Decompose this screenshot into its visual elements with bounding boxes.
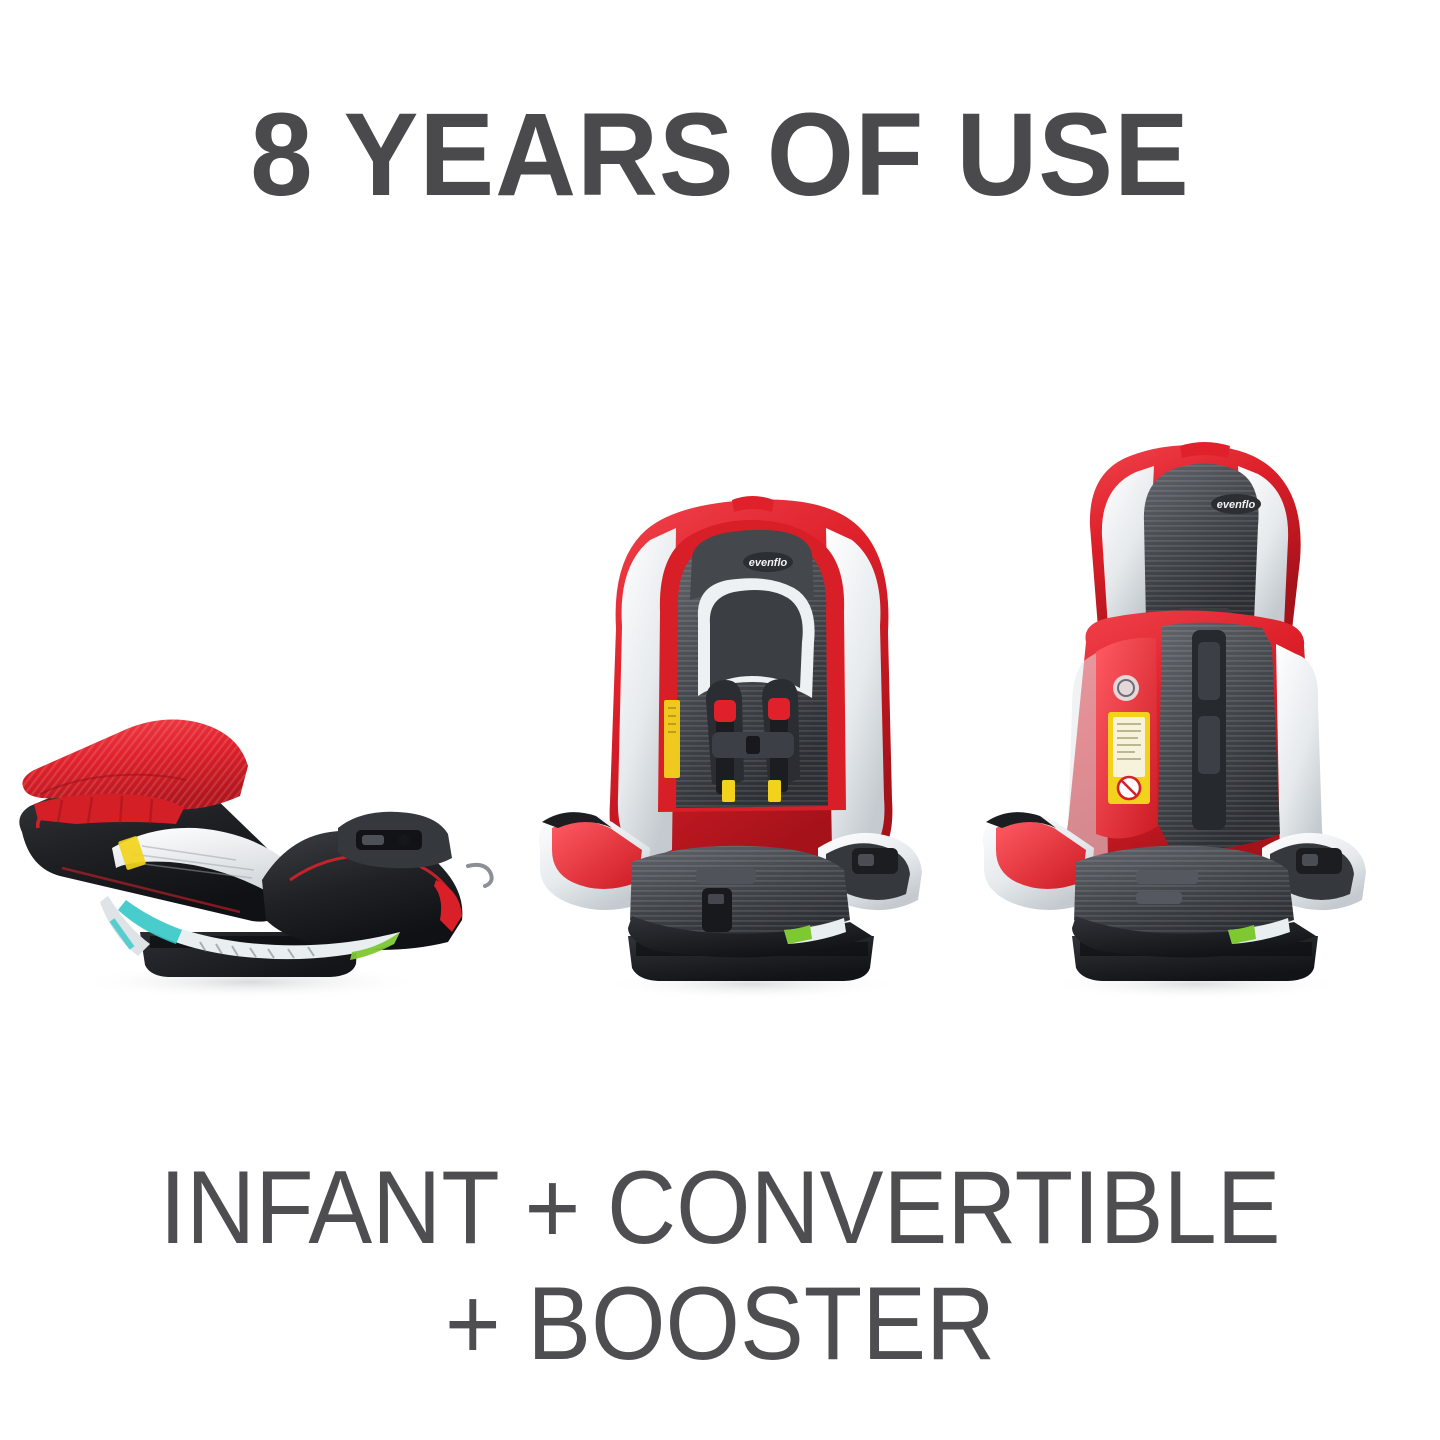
convertible-cup-holder-slot [858, 854, 874, 866]
convertible-chest-clip-latch [746, 736, 760, 754]
infant-buckle-tongue [362, 835, 384, 845]
convertible-buckle-release [708, 894, 724, 904]
convertible-warning-label [664, 700, 680, 778]
brand-logo-text-convertible: evenflo [749, 557, 788, 569]
caption-line-2: + BOOSTER [58, 1266, 1383, 1382]
product-configuration-row: evenflo [0, 390, 1440, 1010]
booster-lap-belt-slot-2 [1136, 892, 1182, 904]
marketing-image-canvas: 8 YEARS OF USE [0, 0, 1440, 1440]
booster-headrest-texture [1144, 463, 1259, 622]
booster-icon-badge [1113, 675, 1139, 701]
booster-warning-label-body [1113, 717, 1145, 777]
convertible-chest-clip-left [714, 700, 736, 722]
brand-logo-convertible: evenflo [743, 552, 793, 572]
brand-logo-booster: evenflo [1211, 494, 1261, 514]
convertible-harness-tag-left [722, 780, 735, 802]
product-image-booster: evenflo [940, 430, 1440, 1010]
caption-line-1: INFANT + CONVERTIBLE [58, 1150, 1383, 1266]
brand-logo-text-booster: evenflo [1217, 499, 1256, 511]
infant-buckle-button [399, 835, 410, 846]
product-image-convertible: evenflo [500, 450, 1000, 1010]
convertible-crotch-buckle-plate [696, 868, 756, 884]
infant-latch-hook [468, 865, 492, 886]
booster-belt-guide-upper [1198, 642, 1220, 700]
booster-lap-belt-slot [1136, 870, 1198, 884]
booster-belt-guide-lower [1198, 716, 1220, 774]
booster-cup-holder-slot [1302, 854, 1318, 866]
caption-block: INFANT + CONVERTIBLE + BOOSTER [58, 1150, 1383, 1383]
convertible-harness-tag-right [768, 780, 781, 802]
convertible-chest-clip-right [768, 698, 790, 720]
page-title: 8 YEARS OF USE [36, 96, 1404, 214]
product-image-infant [0, 580, 540, 1010]
convertible-head-pillow-inner [710, 590, 803, 688]
